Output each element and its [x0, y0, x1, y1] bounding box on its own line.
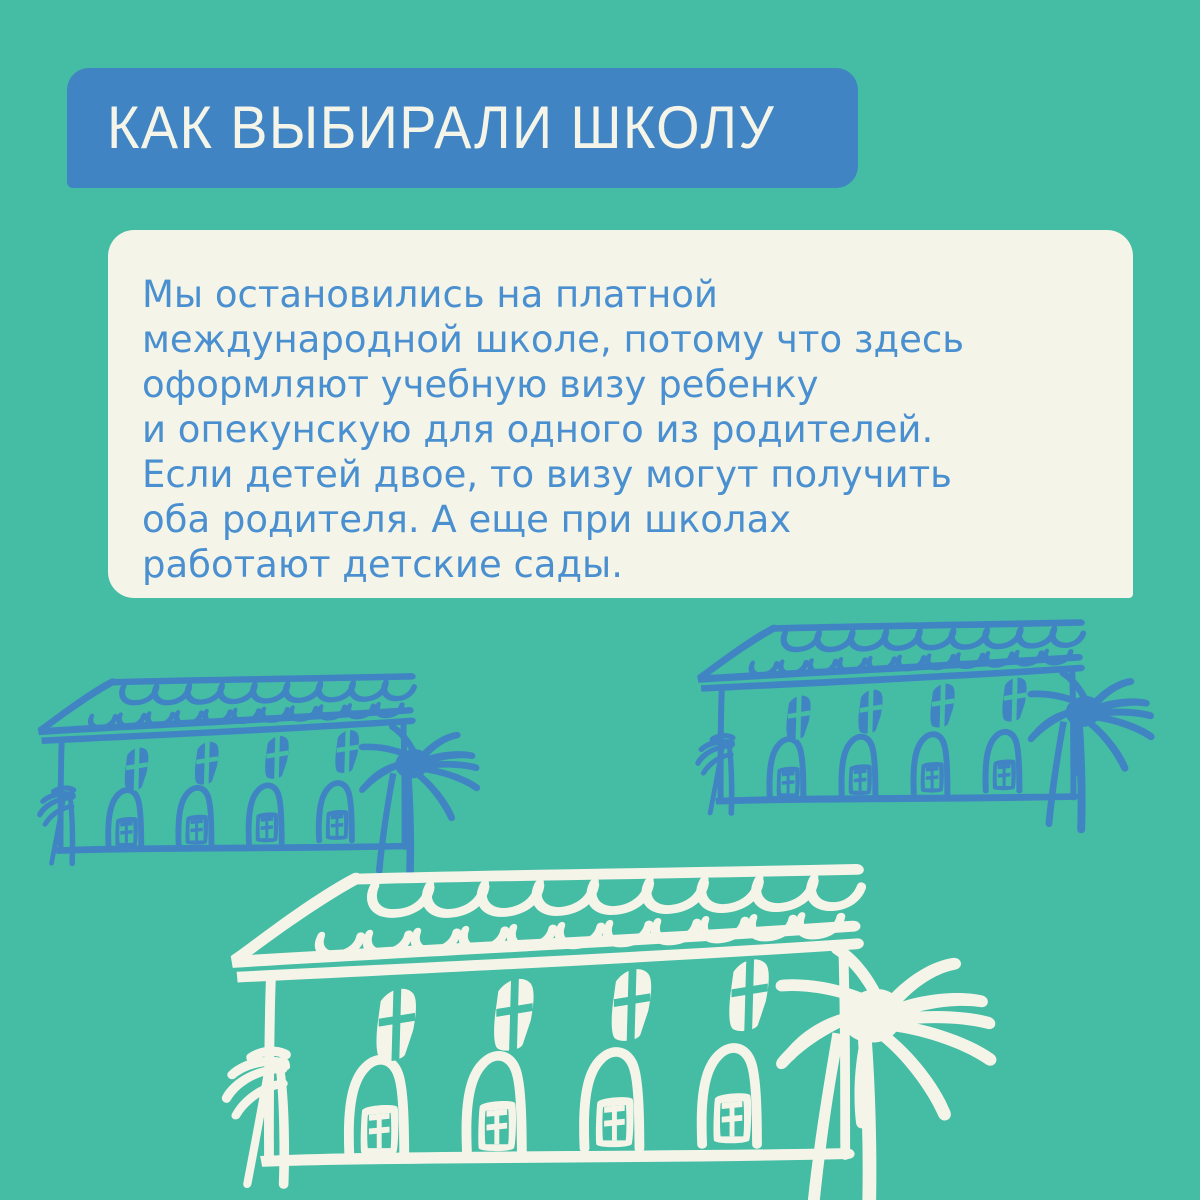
school-building-right — [695, 619, 1154, 833]
page-title: КАК ВЫБИРАЛИ ШКОЛУ — [107, 98, 775, 158]
school-building-left — [37, 673, 480, 880]
body-paragraph: Мы остановились на платной международной… — [142, 272, 1099, 587]
poster-canvas: КАК ВЫБИРАЛИ ШКОЛУ Мы остановились на пл… — [0, 0, 1200, 1200]
title-banner: КАК ВЫБИРАЛИ ШКОЛУ — [67, 68, 858, 188]
school-building-center — [222, 864, 997, 1200]
body-card: Мы остановились на платной международной… — [108, 230, 1133, 598]
